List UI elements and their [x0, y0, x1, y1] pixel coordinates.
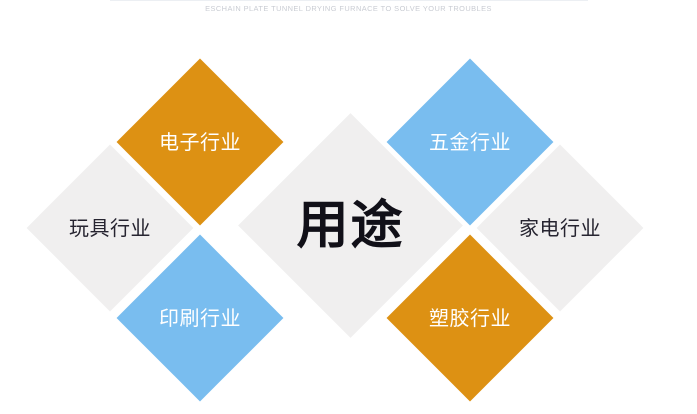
diamond-label-appliance: 家电行业	[519, 218, 601, 238]
usage-diagram-canvas: ESCHAIN PLATE TUNNEL DRYING FURNACE TO S…	[0, 0, 697, 414]
diamond-label-toy: 玩具行业	[69, 218, 151, 238]
header-divider	[110, 0, 588, 1]
diamond-label-printing: 印刷行业	[159, 308, 241, 328]
diamond-label-hardware: 五金行业	[429, 132, 511, 152]
banner-tagline: ESCHAIN PLATE TUNNEL DRYING FURNACE TO S…	[0, 4, 697, 13]
diamond-label-plastic: 塑胶行业	[429, 308, 511, 328]
diamond-label-electronic: 电子行业	[159, 132, 241, 152]
center-title: 用途	[296, 200, 404, 252]
